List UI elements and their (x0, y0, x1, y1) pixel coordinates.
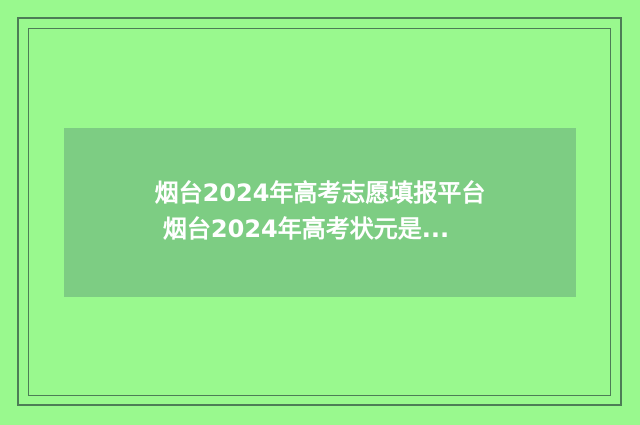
poster-canvas: 烟台2024年高考志愿填报平台 烟台2024年高考状元是... (0, 0, 640, 425)
title-line-secondary: 烟台2024年高考状元是... (64, 211, 576, 247)
title-banner: 烟台2024年高考志愿填报平台 烟台2024年高考状元是... (64, 128, 576, 297)
title-block: 烟台2024年高考志愿填报平台 烟台2024年高考状元是... (64, 175, 576, 247)
title-line-primary: 烟台2024年高考志愿填报平台 (64, 175, 576, 211)
